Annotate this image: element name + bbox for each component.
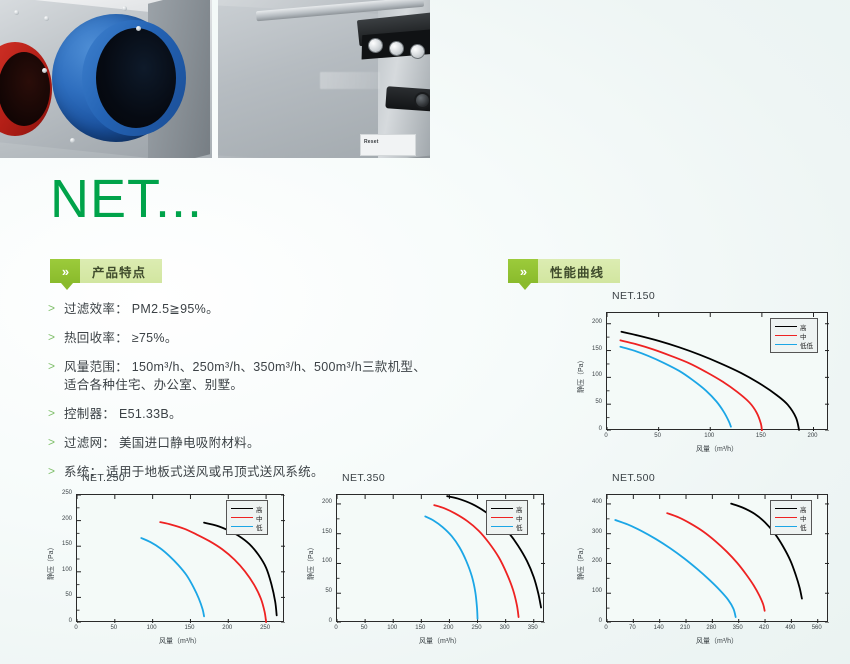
chart-net150: NET.150050100150200050100150200风量（m³/h）静… <box>566 288 838 464</box>
chart-net250: NET.250050100150200250050100150200250风量（… <box>36 470 294 656</box>
list-item-label: 控制器： E51.33B。 <box>64 405 182 423</box>
bullet-chevron-icon: > <box>48 329 64 346</box>
x-axis-label: 风量（m³/h） <box>606 444 828 454</box>
x-tick-label: 50 <box>648 433 668 439</box>
list-item: > 控制器： E51.33B。 <box>48 405 488 423</box>
x-tick-label: 100 <box>142 625 162 631</box>
bullet-chevron-icon: > <box>48 300 64 317</box>
list-item-line1: 风量范围： 150m³/h、250m³/h、350m³/h、500m³/h三款机… <box>64 360 426 374</box>
series-curve-低低 <box>620 347 730 427</box>
x-tick-label: 100 <box>699 433 719 439</box>
x-tick-label: 280 <box>701 625 721 631</box>
rivet-icon <box>44 16 49 21</box>
chart-title: NET.150 <box>612 290 655 302</box>
x-tick-label: 200 <box>217 625 237 631</box>
y-tick-label: 50 <box>50 592 72 598</box>
x-tick-label: 250 <box>467 625 487 631</box>
rivet-icon <box>42 68 47 73</box>
x-tick-label: 350 <box>728 625 748 631</box>
control-panel-photo: Reset <box>218 0 430 158</box>
legend-swatch <box>775 335 797 336</box>
y-tick-label: 0 <box>580 618 602 624</box>
x-tick-label: 0 <box>66 625 86 631</box>
bullet-chevron-icon: > <box>48 434 64 451</box>
chart-legend: 高中低 <box>770 500 812 535</box>
y-tick-label: 150 <box>580 346 602 352</box>
series-curve-高 <box>204 523 277 616</box>
y-tick-label: 200 <box>310 499 332 505</box>
section-header-curves-label: 性能曲线 <box>538 259 620 283</box>
legend-swatch <box>231 517 253 518</box>
legend-label: 低 <box>256 522 263 532</box>
y-tick-label: 400 <box>580 499 602 505</box>
list-item: > 热回收率： ≥75%。 <box>48 329 488 347</box>
y-axis-label: 静压（Pa） <box>46 543 56 580</box>
x-tick-label: 210 <box>675 625 695 631</box>
list-item-label: 热回收率： ≥75%。 <box>64 329 178 347</box>
list-item: > 过滤网： 美国进口静电吸附材料。 <box>48 434 488 452</box>
rivet-icon <box>122 6 127 11</box>
feature-list: > 过滤效率： PM2.5≧95%。 > 热回收率： ≥75%。 > 风量范围：… <box>48 300 488 492</box>
y-tick-label: 50 <box>580 399 602 405</box>
y-tick-label: 0 <box>580 426 602 432</box>
series-curve-低 <box>141 538 204 616</box>
legend-swatch <box>491 508 513 509</box>
x-tick-label: 250 <box>255 625 275 631</box>
y-tick-label: 100 <box>580 588 602 594</box>
x-tick-label: 150 <box>179 625 199 631</box>
legend-item: 低 <box>775 522 807 531</box>
legend-swatch <box>231 526 253 527</box>
x-tick-label: 200 <box>803 433 823 439</box>
x-tick-label: 0 <box>326 625 346 631</box>
latch-knob-icon <box>414 92 430 109</box>
x-tick-label: 150 <box>751 433 771 439</box>
double-chevron-right-icon: » <box>508 259 538 283</box>
chart-net350: NET.350050100150200250300350050100150200… <box>296 470 554 656</box>
x-axis-label: 风量（m³/h） <box>606 636 828 646</box>
section-header-features: » 产品特点 <box>50 259 162 283</box>
y-tick-label: 0 <box>310 618 332 624</box>
rivet-icon <box>136 26 141 31</box>
series-curve-中 <box>160 522 266 622</box>
embossed-logo <box>320 72 380 89</box>
x-tick-label: 560 <box>807 625 827 631</box>
series-curve-低 <box>425 516 477 618</box>
x-tick-label: 50 <box>354 625 374 631</box>
chart-title: NET.500 <box>612 472 655 484</box>
legend-label: 低 <box>516 522 523 532</box>
x-tick-label: 300 <box>495 625 515 631</box>
chart-title: NET.250 <box>82 472 125 484</box>
product-photo-strip: Reset <box>0 0 430 158</box>
legend-swatch <box>775 526 797 527</box>
chart-title: NET.350 <box>342 472 385 484</box>
list-item-line2: 适合各种住宅、办公室、别墅。 <box>64 376 426 394</box>
x-tick-label: 50 <box>104 625 124 631</box>
bullet-chevron-icon: > <box>48 358 64 375</box>
legend-swatch <box>775 508 797 509</box>
y-tick-label: 0 <box>50 618 72 624</box>
x-tick-label: 100 <box>382 625 402 631</box>
list-item: > 风量范围： 150m³/h、250m³/h、350m³/h、500m³/h三… <box>48 358 488 394</box>
x-tick-label: 140 <box>649 625 669 631</box>
double-chevron-right-icon: » <box>50 259 80 283</box>
x-tick-label: 0 <box>596 625 616 631</box>
legend-item: 低 <box>491 522 523 531</box>
legend-item: 低 <box>231 522 263 531</box>
x-tick-label: 200 <box>438 625 458 631</box>
x-tick-label: 0 <box>596 433 616 439</box>
red-duct-opening <box>0 52 50 126</box>
chart-legend: 高中低低 <box>770 318 818 353</box>
x-axis-label: 风量（m³/h） <box>336 636 544 646</box>
y-tick-label: 50 <box>310 588 332 594</box>
y-tick-label: 300 <box>580 529 602 535</box>
y-tick-label: 250 <box>50 490 72 496</box>
legend-label: 低低 <box>800 340 813 350</box>
x-tick-label: 420 <box>754 625 774 631</box>
y-tick-label: 200 <box>580 319 602 325</box>
y-tick-label: 200 <box>50 516 72 522</box>
legend-swatch <box>491 526 513 527</box>
series-curve-中 <box>667 513 764 611</box>
y-tick-label: 150 <box>310 529 332 535</box>
list-item: > 过滤效率： PM2.5≧95%。 <box>48 300 488 318</box>
legend-swatch <box>775 326 797 327</box>
x-tick-label: 70 <box>622 625 642 631</box>
legend-swatch <box>491 517 513 518</box>
section-header-features-label: 产品特点 <box>80 259 162 283</box>
x-axis-label: 风量（m³/h） <box>76 636 284 646</box>
rivet-icon <box>70 138 75 143</box>
x-tick-label: 350 <box>523 625 543 631</box>
list-item-label: 过滤网： 美国进口静电吸附材料。 <box>64 434 260 452</box>
spec-label-text: Reset <box>364 139 379 145</box>
legend-item: 低低 <box>775 340 813 349</box>
legend-swatch <box>775 517 797 518</box>
list-item-label: 风量范围： 150m³/h、250m³/h、350m³/h、500m³/h三款机… <box>64 358 426 394</box>
page-title: NET... <box>50 172 203 226</box>
x-tick-label: 150 <box>410 625 430 631</box>
x-tick-label: 490 <box>780 625 800 631</box>
legend-item: 高 <box>775 322 813 331</box>
spec-label <box>360 134 416 156</box>
section-header-curves: » 性能曲线 <box>508 259 620 283</box>
duct-collar-photo <box>0 0 212 158</box>
chart-legend: 高中低 <box>226 500 268 535</box>
series-curve-低 <box>615 520 735 617</box>
list-item-label: 过滤效率： PM2.5≧95%。 <box>64 300 219 318</box>
blue-duct-opening <box>96 28 176 128</box>
y-axis-label: 静压（Pa） <box>576 543 586 580</box>
chart-legend: 高中低 <box>486 500 528 535</box>
legend-swatch <box>231 508 253 509</box>
legend-label: 低 <box>800 522 807 532</box>
y-axis-label: 静压（Pa） <box>576 356 586 393</box>
chart-net500: NET.500070140210280350420490560010020030… <box>566 470 838 656</box>
y-axis-label: 静压（Pa） <box>306 543 316 580</box>
bullet-chevron-icon: > <box>48 405 64 422</box>
rivet-icon <box>14 10 19 15</box>
page-root: Reset NET... » 产品特点 » 性能曲线 > 过滤效率： PM2.5… <box>0 0 850 664</box>
legend-swatch <box>775 344 797 345</box>
